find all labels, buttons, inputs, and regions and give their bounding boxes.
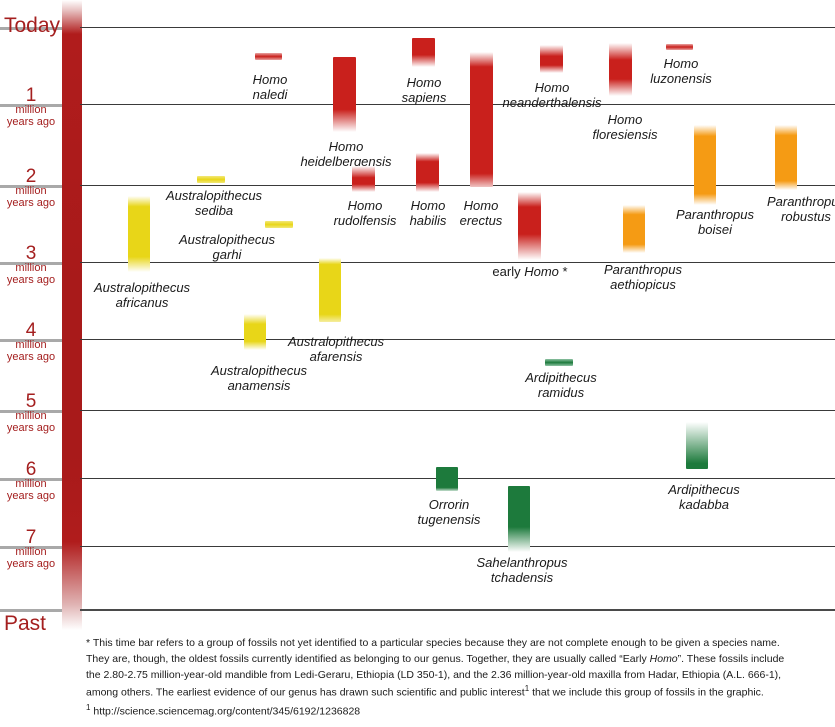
species-label-australopithecus-africanus: Australopithecus africanus [83, 281, 201, 310]
range-bar-paranthropus-boisei[interactable] [694, 125, 716, 205]
species-label-paranthropus-aethiopicus: Paranthropus aethiopicus [588, 263, 698, 292]
early-homo-asterisk: * [559, 264, 568, 279]
axis-tick-6-unit-line1: million [0, 479, 62, 490]
range-bar-homo-neanderthalensis[interactable] [540, 45, 563, 73]
species-label-homo-naledi: Homo naledi [230, 73, 310, 102]
range-bar-ardipithecus-ramidus[interactable] [545, 359, 573, 366]
footnote-line-2-part-b: ”. These fossils include [678, 653, 785, 665]
footnote-line-4-part-b: that we include this group of fossils in… [529, 687, 764, 699]
range-bar-homo-naledi[interactable] [255, 53, 282, 60]
footnote-line-2-italic-homo: Homo [650, 653, 678, 665]
early-homo-prefix: early [492, 264, 524, 279]
axis-tick-5-unit-line1: million [0, 411, 62, 422]
footnote-line-4: among others. The earliest evidence of o… [86, 683, 828, 701]
footnote-line-1: * This time bar refers to a group of fos… [86, 636, 828, 652]
species-label-early-homo: early Homo * [480, 265, 580, 280]
axis-tick-4-unit-line2: years ago [0, 352, 62, 363]
species-label-homo-floresiensis: Homo floresiensis [580, 113, 670, 142]
range-bar-sahelanthropus-tchadensis[interactable] [508, 486, 530, 552]
axis-tick-3-number: 3 [0, 244, 62, 263]
range-bar-early-homo[interactable] [518, 192, 541, 260]
gridline-7mya [80, 546, 835, 547]
axis-tick-2: 2 million years ago [0, 167, 62, 209]
axis-tick-3: 3 million years ago [0, 244, 62, 286]
axis-label-today: Today [4, 14, 70, 38]
footnote-block: * This time bar refers to a group of fos… [86, 636, 828, 720]
range-bar-homo-heidelbergensis[interactable] [333, 57, 356, 132]
time-axis: Today 1 million years ago 2 million year… [0, 0, 80, 630]
footnote-line-2-part-a: They are, though, the oldest fossils cur… [86, 653, 650, 665]
range-bar-australopithecus-anamensis[interactable] [244, 314, 266, 350]
range-bar-australopithecus-afarensis[interactable] [319, 258, 341, 322]
species-label-homo-sapiens: Homo sapiens [383, 76, 465, 105]
axis-tick-5-unit-line2: years ago [0, 423, 62, 434]
axis-tick-7-unit-line1: million [0, 547, 62, 558]
range-bar-australopithecus-sediba[interactable] [197, 176, 225, 183]
axis-tick-6: 6 million years ago [0, 460, 62, 502]
axis-tick-2-unit-line2: years ago [0, 198, 62, 209]
gridline-past [80, 609, 835, 611]
range-bar-paranthropus-aethiopicus[interactable] [623, 205, 645, 253]
species-label-homo-luzonensis: Homo luzonensis [643, 57, 719, 86]
time-gradient-bar [62, 0, 82, 630]
axis-tick-3-unit-line1: million [0, 263, 62, 274]
range-bar-orrorin-tugenensis[interactable] [436, 467, 458, 491]
footnote-line-4-part-a: among others. The earliest evidence of o… [86, 687, 525, 699]
range-bar-homo-floresiensis[interactable] [609, 43, 632, 96]
axis-tick-2-unit-line1: million [0, 186, 62, 197]
axis-tick-7-unit-line2: years ago [0, 559, 62, 570]
species-label-homo-heidelbergensis: Homo heidelbergensis [291, 140, 401, 169]
axis-tick-7: 7 million years ago [0, 528, 62, 570]
axis-tick-1: 1 million years ago [0, 86, 62, 128]
species-label-homo-erectus: Homo erectus [442, 199, 520, 228]
footnote-line-3: the 2.80-2.75 million-year-old mandible … [86, 668, 828, 684]
axis-tick-4-number: 4 [0, 321, 62, 340]
species-label-ardipithecus-ramidus: Ardipithecus ramidus [513, 371, 609, 400]
axis-tick-3-unit-line2: years ago [0, 275, 62, 286]
species-label-australopithecus-sediba: Australopithecus sediba [155, 189, 273, 218]
gridline-2mya [80, 185, 835, 186]
range-bar-homo-sapiens[interactable] [412, 38, 435, 67]
axis-tick-5: 5 million years ago [0, 392, 62, 434]
range-bar-australopithecus-garhi[interactable] [265, 221, 293, 228]
axis-tick-5-number: 5 [0, 392, 62, 411]
footnote-source-line: 1 http://science.sciencemag.org/content/… [86, 702, 828, 720]
timeline-plot-area: Homo naledi Homo sapiens Homo neandertha… [80, 0, 835, 630]
species-label-ardipithecus-kadabba: Ardipithecus kadabba [656, 483, 752, 512]
axis-tick-1-unit-line2: years ago [0, 117, 62, 128]
axis-tick-6-unit-line2: years ago [0, 491, 62, 502]
species-label-orrorin-tugenensis: Orrorin tugenensis [407, 498, 491, 527]
range-bar-ardipithecus-kadabba[interactable] [686, 422, 708, 469]
footnote-line-2: They are, though, the oldest fossils cur… [86, 652, 828, 668]
range-bar-homo-rudolfensis[interactable] [352, 166, 375, 192]
gridline-5mya [80, 410, 835, 411]
gridline-3mya [80, 262, 835, 263]
gridline-today [80, 27, 835, 28]
early-homo-genus: Homo [524, 264, 559, 279]
axis-tick-1-unit-line1: million [0, 105, 62, 116]
axis-tick-6-number: 6 [0, 460, 62, 479]
species-label-homo-neanderthalensis: Homo neanderthalensis [500, 81, 604, 110]
species-label-paranthropus-robustus: Paranthropus robustus [750, 195, 835, 224]
range-bar-homo-luzonensis[interactable] [666, 44, 693, 50]
axis-tick-2-number: 2 [0, 167, 62, 186]
footnote-source-url[interactable]: http://science.sciencemag.org/content/34… [90, 705, 360, 717]
species-label-sahelanthropus-tchadensis: Sahelanthropus tchadensis [465, 556, 579, 585]
evolution-timeline-infographic: Today 1 million years ago 2 million year… [0, 0, 835, 727]
axis-tick-7-number: 7 [0, 528, 62, 547]
range-bar-homo-habilis[interactable] [416, 153, 439, 192]
axis-tick-1-number: 1 [0, 86, 62, 105]
species-label-australopithecus-anamensis: Australopithecus anamensis [194, 364, 324, 393]
range-bar-australopithecus-africanus[interactable] [128, 196, 150, 272]
axis-label-past: Past [4, 612, 70, 636]
gridline-4mya [80, 339, 835, 340]
range-bar-homo-erectus[interactable] [470, 52, 493, 187]
axis-tick-4-unit-line1: million [0, 340, 62, 351]
species-label-australopithecus-garhi: Australopithecus garhi [168, 233, 286, 262]
axis-tick-4: 4 million years ago [0, 321, 62, 363]
species-label-australopithecus-afarensis: Australopithecus afarensis [277, 335, 395, 364]
range-bar-paranthropus-robustus[interactable] [775, 125, 797, 190]
